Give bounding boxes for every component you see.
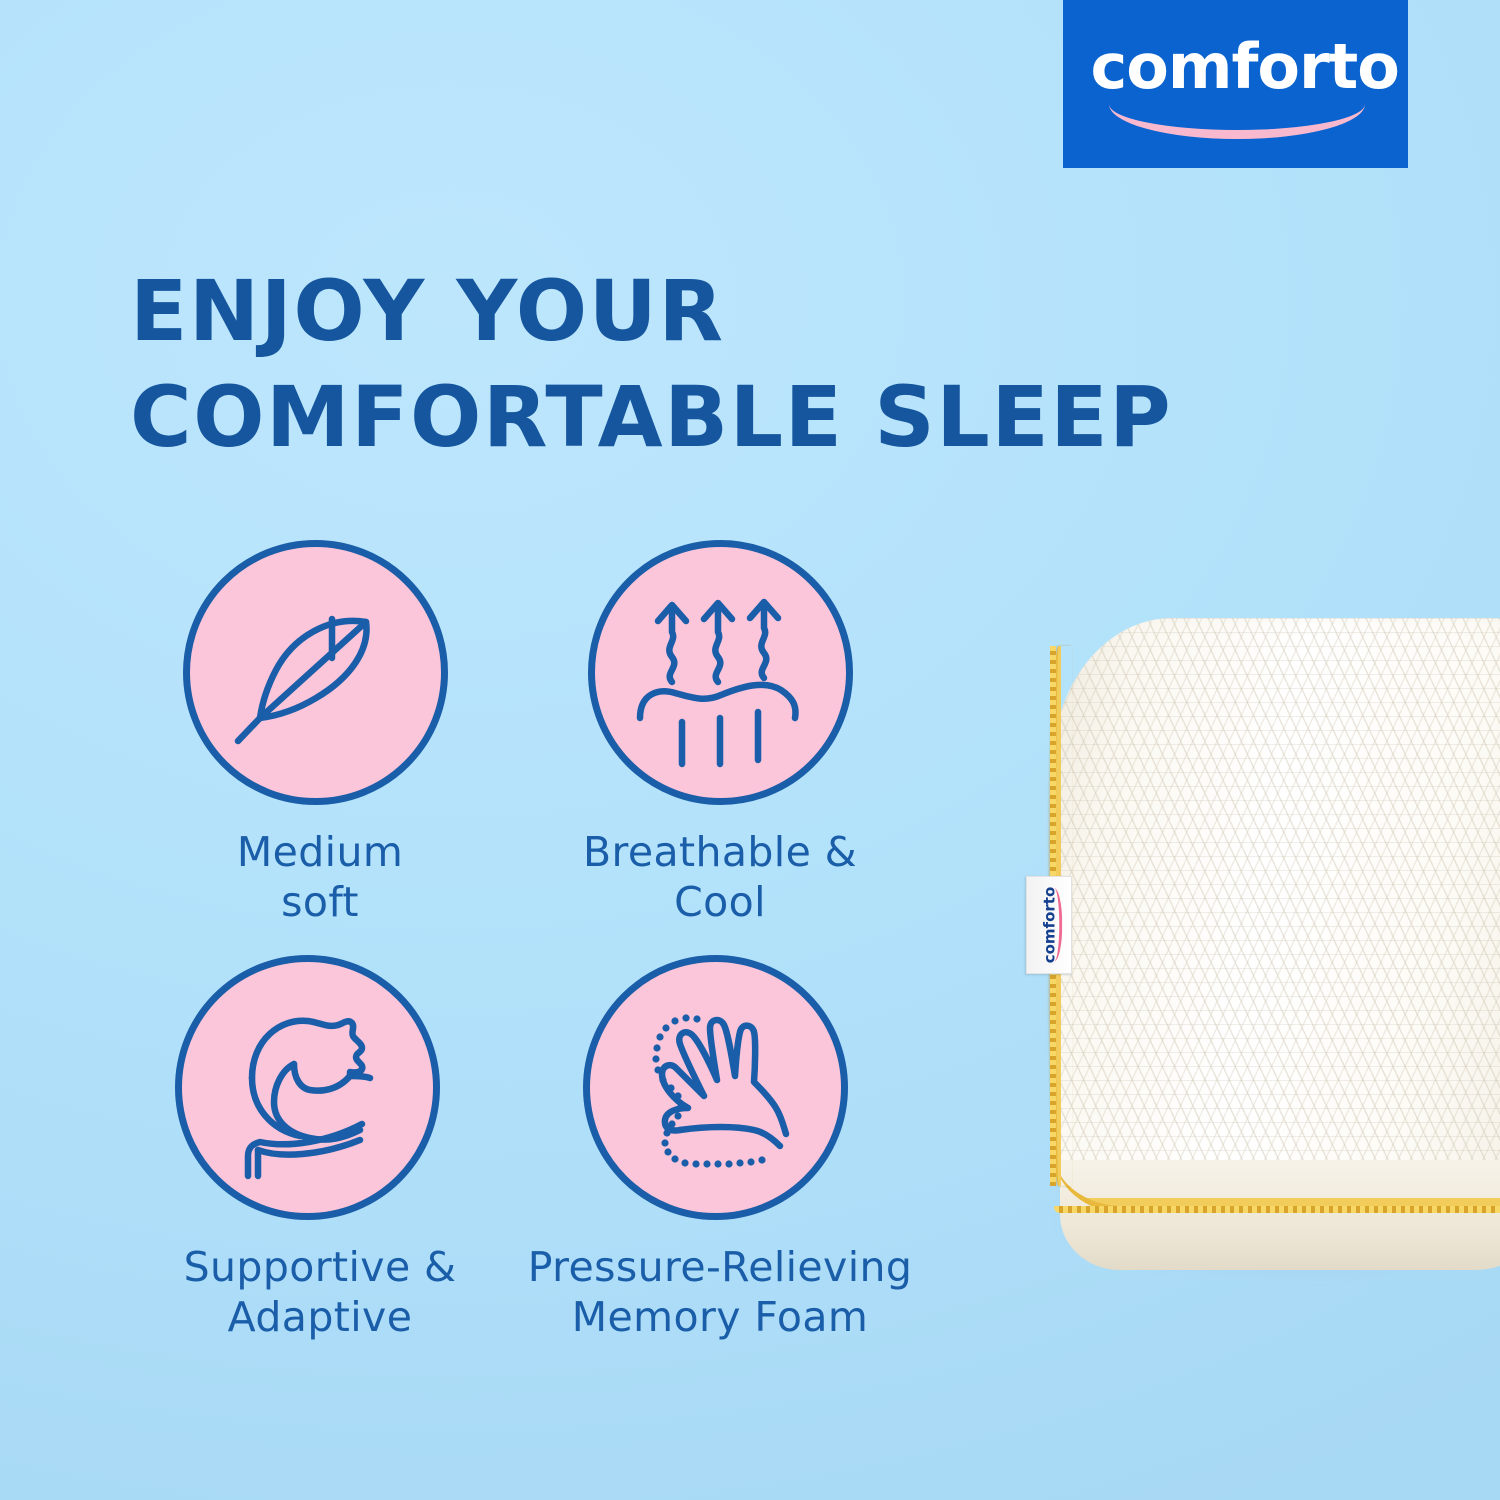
headline-line-1: ENJOY YOUR <box>130 262 725 360</box>
breathable-airflow-icon <box>625 578 815 768</box>
product-brand-tag: comforto <box>1026 876 1072 974</box>
feature-badge <box>583 955 848 1220</box>
brand-logo-swoosh-icon <box>1109 104 1365 139</box>
brand-logo: comforto <box>1063 0 1408 168</box>
feature-item-supportive-adaptive: Supportive & Adaptive <box>120 955 520 1342</box>
pillow-gold-piping-bottom <box>1054 1140 1500 1213</box>
feature-badge <box>175 955 440 1220</box>
headline-line-2: COMFORTABLE SLEEP <box>130 364 1190 470</box>
feature-item-medium-soft: Medium soft <box>120 540 520 927</box>
head-neck-support-icon <box>210 990 405 1185</box>
marketing-banner: comforto ENJOY YOUR COMFORTABLE SLEEP <box>0 0 1500 1500</box>
feature-item-breathable-cool: Breathable & Cool <box>520 540 920 927</box>
hand-imprint-icon <box>618 990 813 1185</box>
feature-label: Supportive & Adaptive <box>184 1242 457 1342</box>
feather-icon <box>220 578 410 768</box>
feature-row-1: Medium soft <box>120 540 920 927</box>
feature-grid: Medium soft <box>120 540 920 1342</box>
feature-label: Medium soft <box>237 827 403 927</box>
feature-row-2: Supportive & Adaptive <box>120 955 920 1342</box>
feature-badge <box>183 540 448 805</box>
feature-badge <box>588 540 853 805</box>
feature-label: Breathable & Cool <box>583 827 857 927</box>
feature-item-pressure-relieving: Pressure-Relieving Memory Foam <box>520 955 920 1342</box>
product-brand-tag-text: comforto <box>1040 887 1058 964</box>
feature-label: Pressure-Relieving Memory Foam <box>528 1242 913 1342</box>
page-title: ENJOY YOUR COMFORTABLE SLEEP <box>130 258 1190 470</box>
brand-logo-text: comforto <box>1091 32 1381 102</box>
product-image-memory-foam-pillow: comforto <box>1020 600 1500 1300</box>
